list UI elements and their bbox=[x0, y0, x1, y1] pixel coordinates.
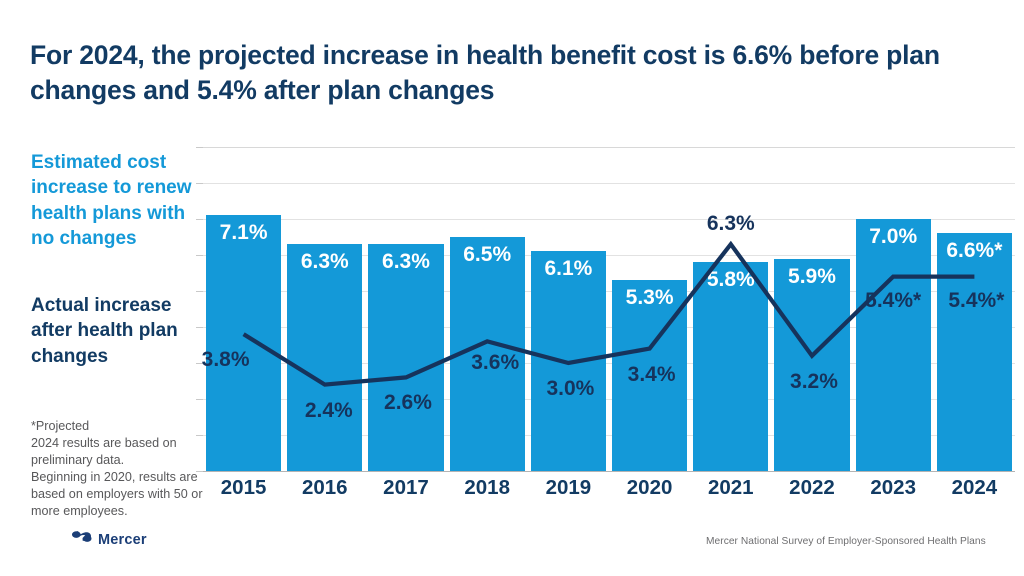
y-axis-tick bbox=[196, 255, 203, 256]
y-axis-tick bbox=[196, 435, 203, 436]
line-value-label-2022: 3.2% bbox=[773, 370, 854, 394]
y-axis-tick bbox=[196, 147, 203, 148]
line-value-label-2018: 3.6% bbox=[455, 351, 536, 375]
mercer-logo: Mercer bbox=[72, 531, 147, 549]
health-benefit-cost-chart: 7.1%6.3%6.3%6.5%6.1%5.3%5.8%5.9%7.0%6.6%… bbox=[203, 147, 1015, 471]
y-axis-tick bbox=[196, 291, 203, 292]
y-axis-tick bbox=[196, 471, 203, 472]
line-value-label-2023: 5.4%* bbox=[853, 289, 934, 313]
x-axis-labels: 2015201620172018201920202021202220232024 bbox=[203, 476, 1015, 506]
x-axis-label-2022: 2022 bbox=[771, 476, 852, 500]
line-value-label-2024: 5.4%* bbox=[936, 289, 1017, 313]
x-axis-label-2020: 2020 bbox=[609, 476, 690, 500]
page-title: For 2024, the projected increase in heal… bbox=[30, 38, 950, 108]
line-value-label-2021: 6.3% bbox=[690, 212, 771, 236]
footnote-text: *Projected 2024 results are based on pre… bbox=[31, 418, 213, 520]
line-value-label-2019: 3.0% bbox=[530, 377, 611, 401]
x-axis-label-2024: 2024 bbox=[934, 476, 1015, 500]
line-value-label-2015: 3.8% bbox=[185, 348, 266, 372]
source-note: Mercer National Survey of Employer-Spons… bbox=[706, 536, 986, 547]
legend-bar-series-label: Estimated cost increase to renew health … bbox=[31, 150, 199, 251]
mercer-wordmark: Mercer bbox=[98, 532, 147, 548]
x-axis-label-2019: 2019 bbox=[528, 476, 609, 500]
axis-baseline bbox=[203, 471, 1015, 472]
y-axis-tick bbox=[196, 399, 203, 400]
x-axis-label-2018: 2018 bbox=[447, 476, 528, 500]
line-value-label-2017: 2.6% bbox=[367, 391, 448, 415]
y-axis-tick bbox=[196, 327, 203, 328]
legend-line-series-label: Actual increase after health plan change… bbox=[31, 293, 211, 369]
line-value-label-2016: 2.4% bbox=[288, 399, 369, 423]
x-axis-label-2023: 2023 bbox=[853, 476, 934, 500]
mercer-swirl-icon bbox=[72, 531, 92, 549]
line-value-label-2020: 3.4% bbox=[611, 363, 692, 387]
x-axis-label-2016: 2016 bbox=[284, 476, 365, 500]
x-axis-label-2017: 2017 bbox=[365, 476, 446, 500]
y-axis-tick bbox=[196, 183, 203, 184]
x-axis-label-2015: 2015 bbox=[203, 476, 284, 500]
x-axis-label-2021: 2021 bbox=[690, 476, 771, 500]
chart-plot-area: 7.1%6.3%6.3%6.5%6.1%5.3%5.8%5.9%7.0%6.6%… bbox=[203, 147, 1015, 471]
y-axis-tick bbox=[196, 219, 203, 220]
